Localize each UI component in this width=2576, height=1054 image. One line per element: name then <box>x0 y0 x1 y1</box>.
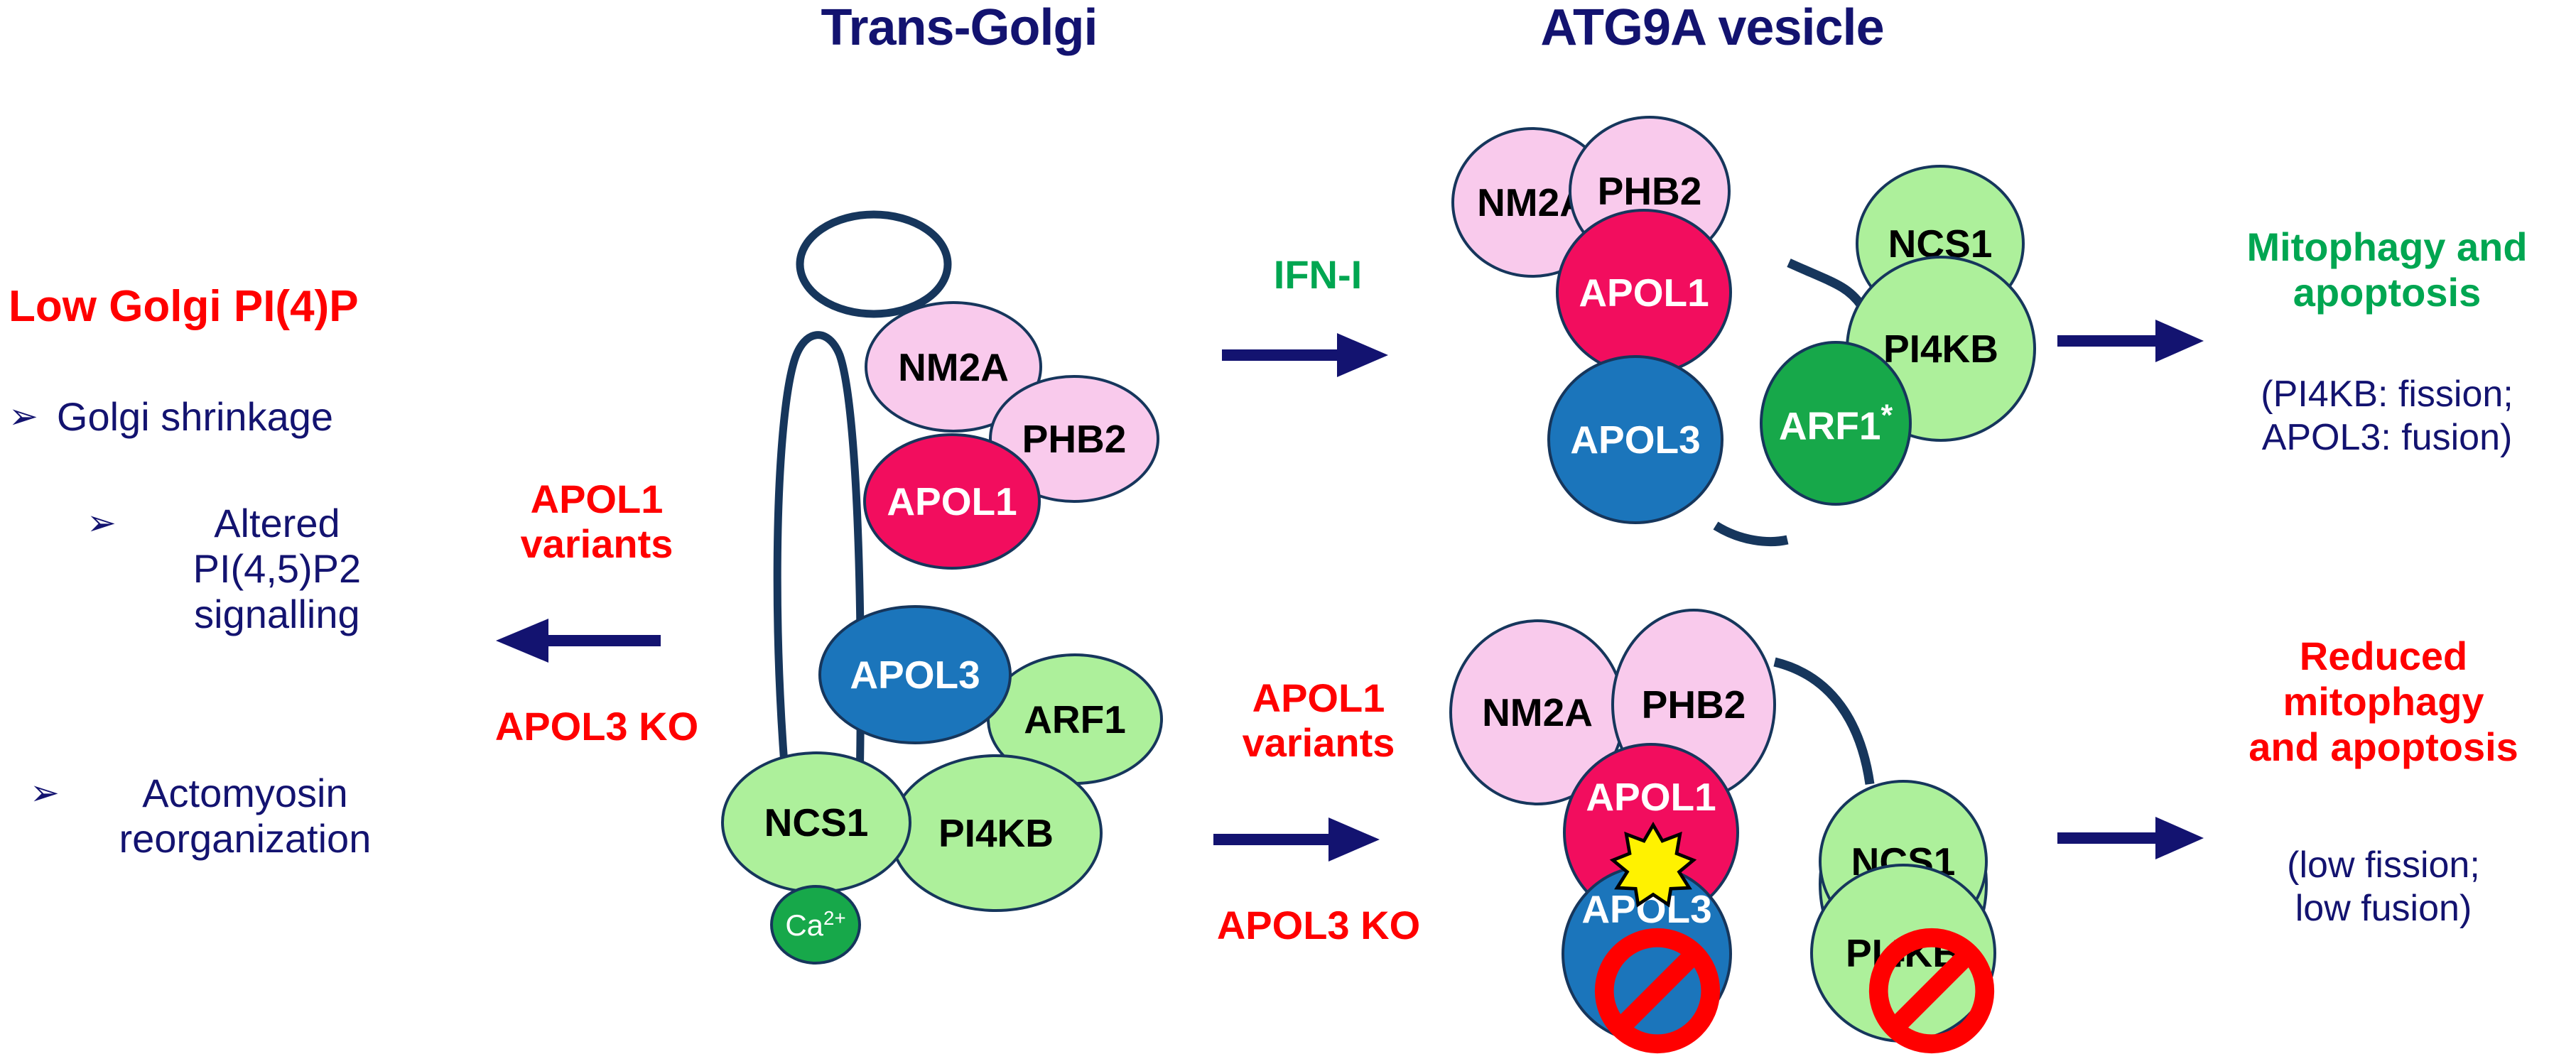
arrow-ifn-i-icon <box>1216 327 1394 384</box>
outcome-detail-line: (PI4KB: fission; <box>2202 373 2572 416</box>
arrow-label-ifn-i: IFN-I <box>1201 253 1435 298</box>
bullet-altered-pi45p2-signalling: ➢ Altered PI(4,5)P2 signalling <box>87 501 456 636</box>
protein-label: PHB2 <box>1642 682 1746 727</box>
protein-blob-apol3: APOL3 <box>818 605 1012 744</box>
bullet-line: signalling <box>135 592 419 637</box>
protein-blob-ncs1: NCS1 <box>721 751 911 893</box>
left-panel-title: Low Golgi PI(4)P <box>9 281 359 332</box>
outcome-line: Reduced <box>2195 634 2572 679</box>
yellow-star-icon <box>1611 820 1695 909</box>
protein-label: APOL1 <box>1586 774 1716 820</box>
arrow-left-back-icon <box>490 612 668 669</box>
protein-label: APOL3 <box>1570 417 1700 462</box>
outcome-line: and apoptosis <box>2195 724 2572 770</box>
arrow-label-apol1-variants-right: APOL1 variants <box>1176 676 1461 765</box>
arrow-label-line: variants <box>440 522 753 567</box>
arrow-apol1-variants-icon <box>1208 811 1385 868</box>
protein-label: PHB2 <box>1022 416 1127 462</box>
protein-label: NCS1 <box>764 800 869 845</box>
outcome-line: Mitophagy and <box>2202 224 2572 270</box>
outcome-top-detail: (PI4KB: fission; APOL3: fusion) <box>2202 373 2572 460</box>
arrow-label-apol1-variants-left: APOL1 variants <box>440 477 753 566</box>
arrow-label-apol3-ko-right: APOL3 KO <box>1176 903 1461 948</box>
outcome-bottom-detail: (low fission; low fusion) <box>2195 844 2572 931</box>
outcome-top-headline: Mitophagy and apoptosis <box>2202 224 2572 315</box>
arrow-label-line: variants <box>1176 721 1461 766</box>
bullet-label: Golgi shrinkage <box>57 394 333 440</box>
outcome-line: apoptosis <box>2202 270 2572 315</box>
bullet-arrow-icon: ➢ <box>87 505 117 540</box>
outcome-detail-line: APOL3: fusion) <box>2202 416 2572 460</box>
calcium-charge: 2+ <box>823 907 846 929</box>
bullet-line: PI(4,5)P2 <box>135 546 419 592</box>
prohibition-sign-icon <box>1868 928 1995 1054</box>
protein-label: APOL3 <box>850 652 980 697</box>
bullet-label-block: Actomyosin reorganization <box>78 771 412 862</box>
protein-label: PI4KB <box>1883 326 1998 371</box>
protein-label: PHB2 <box>1598 168 1702 214</box>
protein-blob-pi4kb: PI4KB <box>889 754 1103 912</box>
protein-label: APOL1 <box>1579 270 1709 315</box>
protein-blob-apol1: APOL1 <box>863 433 1041 570</box>
page-title-trans-golgi: Trans-Golgi <box>718 0 1201 57</box>
calcium-label: Ca <box>785 908 823 942</box>
arrow-label-apol3-ko-left: APOL3 KO <box>440 705 753 749</box>
protein-blob-apol3: APOL3 <box>1547 355 1723 524</box>
arrow-label-line: APOL1 <box>1176 676 1461 721</box>
protein-blob-apol1: APOL1 <box>1556 209 1732 376</box>
protein-blob-arf1: ARF1* <box>1760 341 1912 506</box>
outcome-line: mitophagy <box>2195 679 2572 724</box>
protein-label: NM2A <box>1482 690 1593 735</box>
outcome-detail-line: (low fission; <box>2195 844 2572 887</box>
outcome-bottom-headline: Reduced mitophagy and apoptosis <box>2195 634 2572 769</box>
arrow-label-line: APOL1 <box>440 477 753 522</box>
bullet-label-block: Altered PI(4,5)P2 signalling <box>135 501 419 636</box>
bullet-line: Altered <box>135 501 419 546</box>
bullet-line: reorganization <box>78 816 412 862</box>
prohibition-sign-icon <box>1594 928 1721 1054</box>
outcome-detail-line: low fusion) <box>2195 887 2572 930</box>
protein-label: NM2A <box>898 344 1009 390</box>
protein-label: PI4KB <box>938 810 1054 856</box>
bullet-arrow-icon: ➢ <box>9 398 38 434</box>
protein-label: ARF1 <box>1779 403 1881 447</box>
bullet-line: Actomyosin <box>78 771 412 816</box>
bullet-golgi-shrinkage: ➢ Golgi shrinkage <box>9 394 421 440</box>
calcium-badge: Ca2+ <box>770 885 861 965</box>
protein-label: APOL1 <box>887 479 1017 524</box>
page-title-atg9a-vesicle: ATG9A vesicle <box>1449 0 1975 57</box>
arrow-bottom-outcome-icon <box>2053 810 2209 866</box>
protein-label-superscript: * <box>1880 398 1893 433</box>
bullet-actomyosin-reorganization: ➢ Actomyosin reorganization <box>30 771 428 862</box>
bullet-arrow-icon: ➢ <box>30 775 60 810</box>
arrow-top-outcome-icon <box>2053 313 2209 369</box>
protein-label: ARF1 <box>1024 697 1126 742</box>
